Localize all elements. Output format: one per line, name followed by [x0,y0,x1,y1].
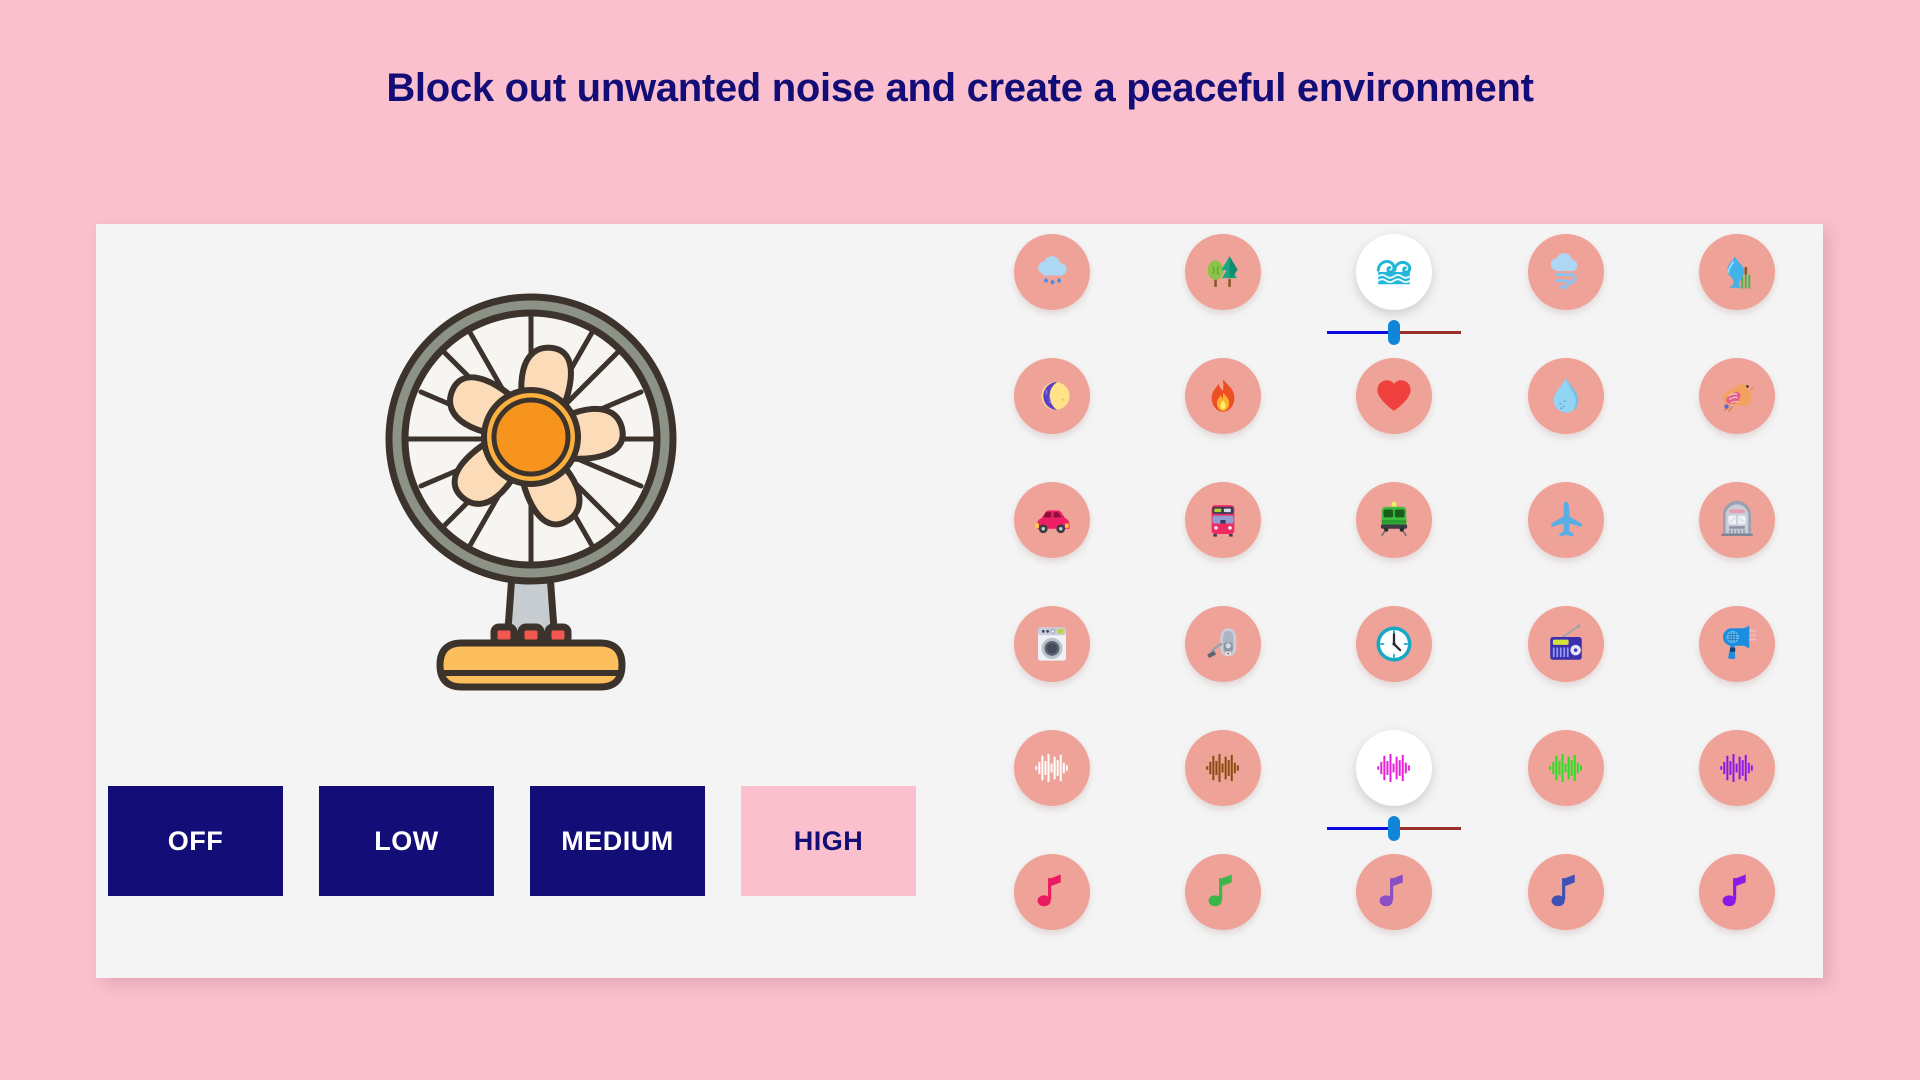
white-noise-waveform-icon [1031,747,1073,789]
airplane-icon [1545,499,1587,541]
sound-button-music-note-green[interactable] [1185,854,1261,930]
volume-track-left [1327,827,1394,830]
speed-button-low[interactable]: LOW [319,786,494,896]
music-note-purple-icon [1373,871,1415,913]
sound-button-water-droplet[interactable] [1528,358,1604,434]
sound-cell [1309,606,1480,717]
page-title: Block out unwanted noise and create a pe… [0,0,1920,110]
sound-cell [1309,358,1480,469]
bus-icon [1202,499,1244,541]
sound-cell [966,482,1137,593]
car-icon [1031,499,1073,541]
bird-icon [1716,375,1758,417]
sound-cell [1137,730,1308,841]
volume-thumb[interactable] [1388,320,1400,345]
sound-button-forest-trees[interactable] [1185,234,1261,310]
music-note-green-icon [1202,871,1244,913]
table-fan-illustration [366,279,696,699]
washing-machine-icon [1031,623,1073,665]
sound-cell [966,234,1137,345]
sound-cell [1652,854,1823,965]
sound-cell [1480,854,1651,965]
sound-cell [966,358,1137,469]
sound-button-bus[interactable] [1185,482,1261,558]
sound-button-rain-cloud[interactable] [1014,234,1090,310]
vacuum-cleaner-icon [1202,623,1244,665]
music-note-pink-icon [1031,871,1073,913]
sound-cell [1652,606,1823,717]
crescent-moon-icon [1031,375,1073,417]
sound-button-music-note-violet[interactable] [1699,854,1775,930]
sound-button-music-note-purple[interactable] [1356,854,1432,930]
sound-cell [1137,854,1308,965]
campfire-flame-icon [1202,375,1244,417]
sound-grid [966,224,1823,978]
sound-button-metro-train[interactable] [1699,482,1775,558]
sound-cell [1652,730,1823,841]
sound-cell [1137,482,1308,593]
sound-button-white-noise-waveform[interactable] [1014,730,1090,806]
sound-cell [1309,730,1480,841]
ocean-waves-icon [1373,251,1415,293]
metro-train-icon [1716,499,1758,541]
sound-button-train[interactable] [1356,482,1432,558]
heart-icon [1373,375,1415,417]
volume-thumb[interactable] [1388,816,1400,841]
violet-noise-waveform-icon [1716,747,1758,789]
sound-button-brown-noise-waveform[interactable] [1185,730,1261,806]
sound-cell [966,606,1137,717]
sound-cell [1137,234,1308,345]
sound-cell [1309,854,1480,965]
speed-button-high[interactable]: HIGH [741,786,916,896]
sound-button-pink-noise-waveform[interactable] [1356,730,1432,806]
sound-button-vacuum-cleaner[interactable] [1185,606,1261,682]
sound-button-bird[interactable] [1699,358,1775,434]
sound-button-crescent-moon[interactable] [1014,358,1090,434]
water-droplet-icon [1545,375,1587,417]
sound-button-music-note-blue[interactable] [1528,854,1604,930]
sound-button-violet-noise-waveform[interactable] [1699,730,1775,806]
sound-cell [1480,234,1651,345]
music-note-violet-icon [1716,871,1758,913]
sound-machine-panel: OFF LOW MEDIUM HIGH [96,224,1823,978]
sound-cell [966,730,1137,841]
sound-cell [1480,482,1651,593]
sound-cell [1652,234,1823,345]
sound-cell [1652,482,1823,593]
sound-cell [966,854,1137,965]
sound-cell [1137,606,1308,717]
volume-track-right [1394,331,1461,334]
pink-noise-waveform-icon [1373,747,1415,789]
sound-cell [1480,730,1651,841]
sound-button-car[interactable] [1014,482,1090,558]
volume-slider[interactable] [1327,815,1461,841]
sound-button-radio[interactable] [1528,606,1604,682]
volume-track-right [1394,827,1461,830]
radio-icon [1545,623,1587,665]
sound-button-wind[interactable] [1528,234,1604,310]
speed-button-medium[interactable]: MEDIUM [530,786,705,896]
sound-cell [1480,606,1651,717]
speed-button-off[interactable]: OFF [108,786,283,896]
wind-icon [1545,251,1587,293]
sound-button-green-noise-waveform[interactable] [1528,730,1604,806]
sound-cell [1480,358,1651,469]
fan-speed-buttons: OFF LOW MEDIUM HIGH [108,786,916,896]
forest-trees-icon [1202,251,1244,293]
rain-cloud-icon [1031,251,1073,293]
sound-cell [1309,234,1480,345]
sound-button-airplane[interactable] [1528,482,1604,558]
volume-track-left [1327,331,1394,334]
sound-cell [1309,482,1480,593]
music-note-blue-icon [1545,871,1587,913]
sound-button-music-note-pink[interactable] [1014,854,1090,930]
sound-button-campfire-flame[interactable] [1185,358,1261,434]
fan-control-pane: OFF LOW MEDIUM HIGH [96,224,966,978]
green-noise-waveform-icon [1545,747,1587,789]
sound-button-ocean-waves[interactable] [1356,234,1432,310]
clock-icon [1373,623,1415,665]
volume-slider[interactable] [1327,319,1461,345]
sound-button-heart[interactable] [1356,358,1432,434]
train-icon [1373,499,1415,541]
sound-button-washing-machine[interactable] [1014,606,1090,682]
sound-cell [1137,358,1308,469]
brown-noise-waveform-icon [1202,747,1244,789]
hair-dryer-icon [1716,623,1758,665]
sound-button-river-stream[interactable] [1699,234,1775,310]
river-stream-icon [1716,251,1758,293]
sound-button-hair-dryer[interactable] [1699,606,1775,682]
sound-selection-pane [966,224,1823,978]
sound-cell [1652,358,1823,469]
sound-button-clock[interactable] [1356,606,1432,682]
